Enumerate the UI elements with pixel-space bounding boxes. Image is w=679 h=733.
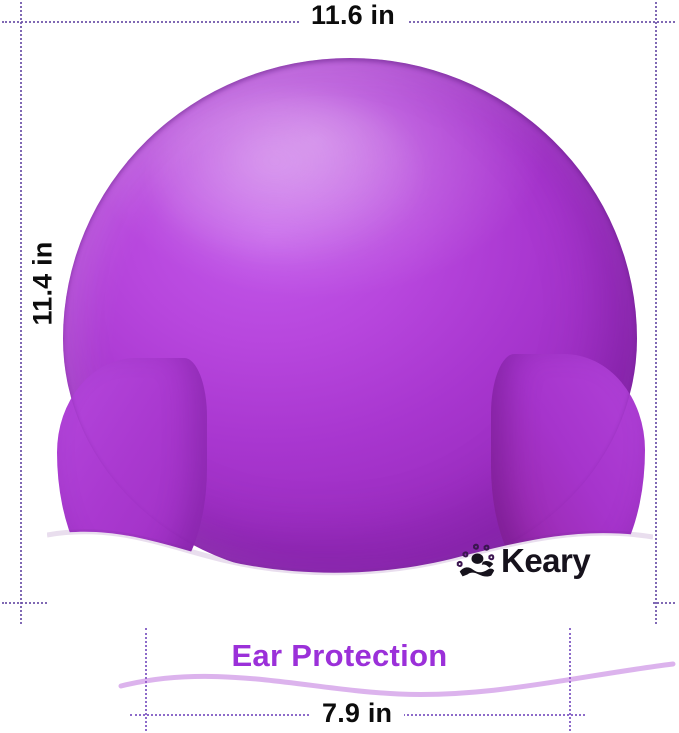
swim-cap-image: Keary [57,58,643,603]
guide-line-right [655,2,657,624]
dimension-label-width-top: 11.6 in [299,2,407,29]
cap-specular-highlight [153,94,423,262]
feature-caption: Ear Protection [0,638,679,674]
product-dimension-diagram: Keary 11.6 in 11.4 in 7.9 in Ear Protect… [0,0,679,733]
brand-wordmark: Keary [501,544,590,577]
dimension-label-width-bottom: 7.9 in [310,700,404,727]
brand-logo: Keary [453,540,593,588]
guide-line-left [20,2,22,624]
dimension-label-height-left: 11.4 in [26,219,61,349]
swimmer-splash-icon [453,540,499,586]
